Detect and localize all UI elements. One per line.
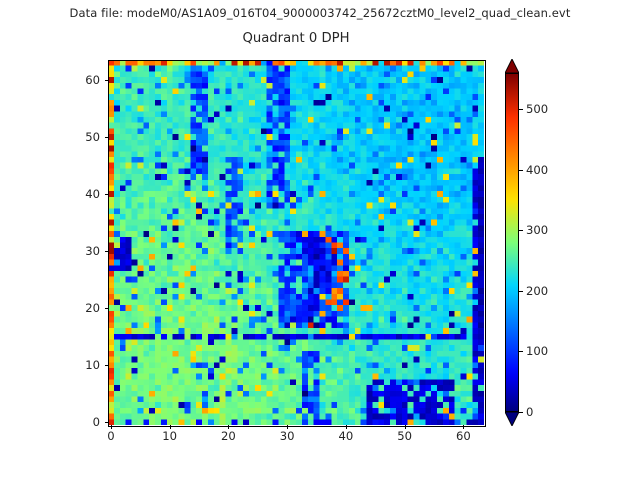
colorbar-tick-label: 200 [526,284,548,298]
x-tick-mark [346,425,347,429]
page-title: Quadrant 0 DPH [108,31,484,46]
x-tick-mark [463,425,464,429]
y-tick-label: 40 [68,187,100,201]
heatmap-plot-area[interactable] [108,60,484,425]
y-tick-mark [105,308,109,309]
colorbar-extend-top-icon [505,59,519,73]
matplotlib-figure: Data file: modeM0/AS1A09_016T04_90000037… [0,0,640,480]
colorbar-gradient [505,73,519,412]
x-tick-label: 60 [456,429,471,443]
colorbar-tick-label: 0 [526,405,533,419]
colorbar-tick-mark [519,291,523,292]
x-tick-label: 30 [280,429,295,443]
y-tick-label: 20 [68,301,100,315]
y-tick-mark [105,137,109,138]
colorbar-tick-mark [519,412,523,413]
y-tick-mark [105,251,109,252]
colorbar-tick-label: 100 [526,344,548,358]
colorbar[interactable] [505,59,519,426]
y-tick-mark [105,365,109,366]
colorbar-tick-label: 400 [526,163,548,177]
colorbar-tick-mark [519,170,523,171]
x-tick-label: 20 [221,429,236,443]
x-tick-mark [170,425,171,429]
colorbar-tick-mark [519,109,523,110]
x-tick-mark [405,425,406,429]
y-tick-label: 10 [68,358,100,372]
colorbar-tick-label: 500 [526,102,548,116]
x-tick-mark [111,425,112,429]
detector-image [108,60,484,425]
x-tick-label: 50 [397,429,412,443]
colorbar-tick-mark [519,230,523,231]
y-tick-mark [105,80,109,81]
data-file-suptitle: Data file: modeM0/AS1A09_016T04_90000037… [0,6,640,20]
y-tick-label: 0 [68,415,100,429]
x-tick-label: 40 [339,429,354,443]
colorbar-extend-bottom-icon [505,412,519,426]
y-tick-mark [105,194,109,195]
x-tick-mark [287,425,288,429]
y-tick-mark [105,422,109,423]
y-tick-label: 50 [68,130,100,144]
colorbar-tick-label: 300 [526,223,548,237]
y-tick-label: 30 [68,244,100,258]
colorbar-tick-mark [519,351,523,352]
x-tick-mark [228,425,229,429]
x-tick-label: 10 [162,429,177,443]
y-tick-label: 60 [68,73,100,87]
x-tick-label: 0 [107,429,114,443]
